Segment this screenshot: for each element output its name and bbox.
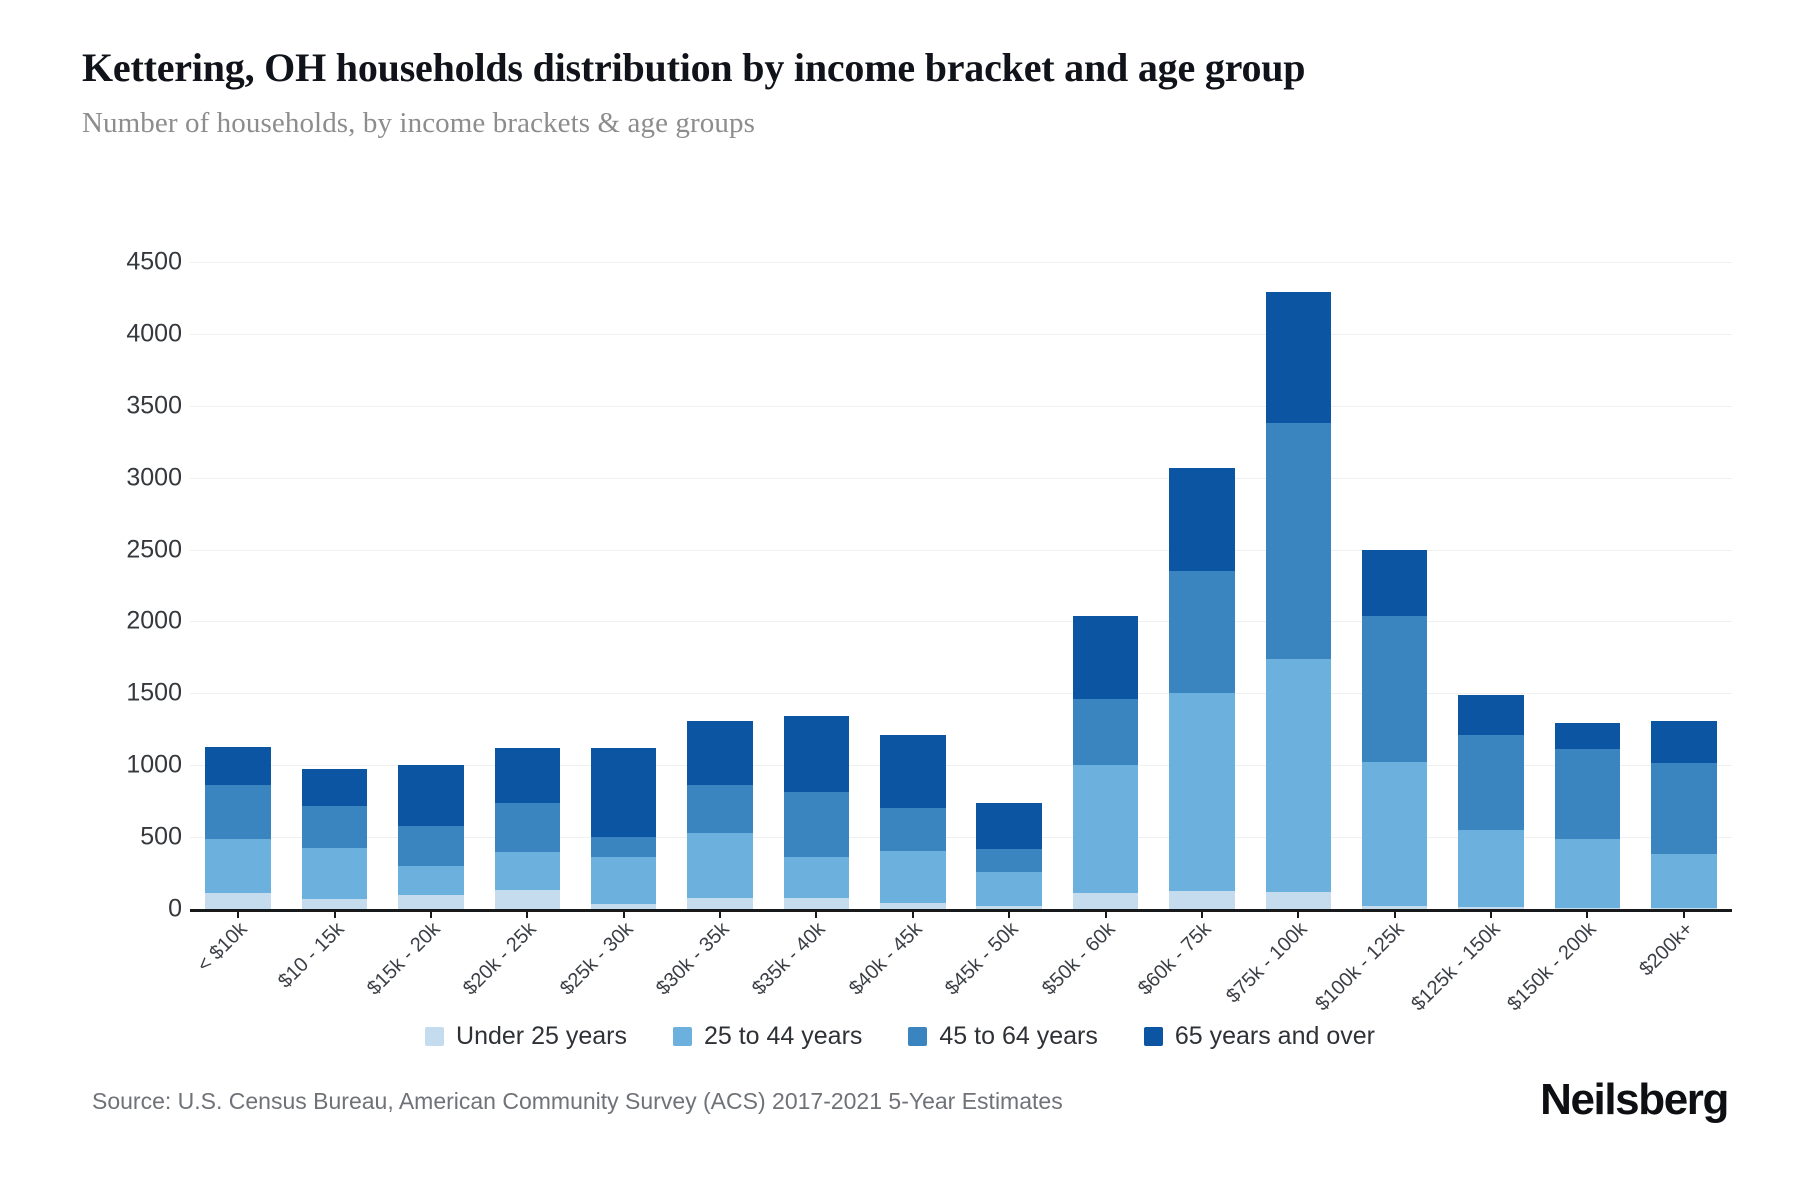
x-axis-label-cell: $50k - 60k <box>1057 918 1153 1028</box>
stacked-bar[interactable] <box>495 748 561 909</box>
x-axis-tick-label-text: < $10k <box>193 918 252 977</box>
y-axis-labels: 050010001500200025003000350040004500 <box>82 262 182 912</box>
x-axis-label-cell: $100k - 125k <box>1347 918 1443 1028</box>
bar-group[interactable] <box>1539 262 1635 909</box>
bar-segment[interactable] <box>687 721 753 784</box>
bar-segment[interactable] <box>302 848 368 899</box>
bar-segment[interactable] <box>302 806 368 848</box>
x-axis-label-cell: $35k - 40k <box>768 918 864 1028</box>
bar-segment[interactable] <box>1555 749 1621 838</box>
bar-segment[interactable] <box>1169 468 1235 572</box>
legend-color-swatch <box>425 1027 444 1046</box>
stacked-bar[interactable] <box>1555 723 1621 909</box>
bar-segment[interactable] <box>1651 721 1717 763</box>
chart-legend: Under 25 years25 to 44 years45 to 64 yea… <box>0 1022 1800 1051</box>
bar-group[interactable] <box>1347 262 1443 909</box>
bar-group[interactable] <box>1154 262 1250 909</box>
stacked-bar[interactable] <box>880 735 946 909</box>
bar-segment[interactable] <box>495 748 561 803</box>
x-axis-labels: < $10k$10 - 15k$15k - 20k$20k - 25k$25k … <box>190 918 1732 1028</box>
bar-segment[interactable] <box>205 747 271 785</box>
page-title: Kettering, OH households distribution by… <box>82 44 1622 91</box>
legend-item-label: 65 years and over <box>1175 1022 1375 1051</box>
y-axis-tick-label: 2500 <box>126 535 182 564</box>
x-axis-label-cell: $200k+ <box>1636 918 1732 1028</box>
bar-segment[interactable] <box>495 803 561 852</box>
bar-segment[interactable] <box>1169 571 1235 693</box>
bar-group[interactable] <box>865 262 961 909</box>
plot-area: 050010001500200025003000350040004500 <box>82 262 1732 912</box>
legend-item-label: 45 to 64 years <box>939 1022 1097 1051</box>
bar-segment[interactable] <box>1362 616 1428 762</box>
bar-segment[interactable] <box>1266 292 1332 423</box>
x-axis-label-cell: $30k - 35k <box>672 918 768 1028</box>
bar-segment[interactable] <box>880 735 946 808</box>
x-axis-label-cell: < $10k <box>190 918 286 1028</box>
x-axis-label-cell: $10 - 15k <box>286 918 382 1028</box>
stacked-bar[interactable] <box>398 765 464 909</box>
bar-group[interactable] <box>190 262 286 909</box>
brand-logo: Neilsberg <box>1540 1075 1728 1125</box>
bar-segment[interactable] <box>1555 723 1621 750</box>
bar-segment[interactable] <box>1458 735 1524 830</box>
stacked-bar[interactable] <box>1651 721 1717 909</box>
stacked-bar[interactable] <box>302 769 368 909</box>
bar-segment[interactable] <box>880 808 946 851</box>
stacked-bar[interactable] <box>1266 292 1332 909</box>
y-axis-tick-label: 4000 <box>126 319 182 348</box>
stacked-bar[interactable] <box>591 748 657 909</box>
legend-item-label: 25 to 44 years <box>704 1022 862 1051</box>
x-axis-tick-label-text: $200k+ <box>1635 918 1698 981</box>
y-axis-tick-label: 2000 <box>126 607 182 636</box>
bar-group[interactable] <box>1636 262 1732 909</box>
bar-segment[interactable] <box>1362 550 1428 616</box>
bar-segment[interactable] <box>976 803 1042 849</box>
y-axis-tick-label: 4500 <box>126 248 182 277</box>
y-axis-tick-label: 0 <box>168 895 182 924</box>
y-axis-tick-label: 1500 <box>126 679 182 708</box>
bar-segment[interactable] <box>1362 762 1428 906</box>
x-axis-label-cell: $40k - 45k <box>865 918 961 1028</box>
bar-series-container <box>190 262 1732 909</box>
bar-segment[interactable] <box>398 765 464 826</box>
bar-group[interactable] <box>672 262 768 909</box>
bar-segment[interactable] <box>1266 423 1332 659</box>
chart-header: Kettering, OH households distribution by… <box>82 44 1642 140</box>
y-axis-tick-label: 3500 <box>126 391 182 420</box>
grid-area <box>190 262 1732 912</box>
bar-group[interactable] <box>961 262 1057 909</box>
legend-item-4[interactable]: 65 years and over <box>1144 1022 1375 1051</box>
bar-group[interactable] <box>1057 262 1153 909</box>
bar-group[interactable] <box>286 262 382 909</box>
bar-group[interactable] <box>479 262 575 909</box>
y-axis-tick-label: 500 <box>140 823 182 852</box>
x-axis-label-cell: $20k - 25k <box>479 918 575 1028</box>
chart-subtitle: Number of households, by income brackets… <box>82 107 1642 140</box>
bar-segment[interactable] <box>1073 616 1139 699</box>
bar-segment[interactable] <box>591 748 657 837</box>
bar-segment[interactable] <box>687 785 753 833</box>
x-axis-label-cell: $25k - 30k <box>576 918 672 1028</box>
x-axis-label-cell: $15k - 20k <box>383 918 479 1028</box>
legend-color-swatch <box>908 1027 927 1046</box>
bar-segment[interactable] <box>398 866 464 895</box>
stacked-bar[interactable] <box>205 747 271 909</box>
bar-segment[interactable] <box>784 716 850 792</box>
bar-group[interactable] <box>1443 262 1539 909</box>
stacked-bar[interactable] <box>1169 468 1235 909</box>
bar-segment[interactable] <box>398 826 464 866</box>
legend-item-1[interactable]: Under 25 years <box>425 1022 627 1051</box>
legend-color-swatch <box>673 1027 692 1046</box>
legend-color-swatch <box>1144 1027 1163 1046</box>
stacked-bar[interactable] <box>687 721 753 909</box>
bar-group[interactable] <box>1250 262 1346 909</box>
bar-group[interactable] <box>383 262 479 909</box>
stacked-bar[interactable] <box>1458 695 1524 909</box>
x-axis-label-cell: $60k - 75k <box>1154 918 1250 1028</box>
bar-group[interactable] <box>576 262 672 909</box>
bar-group[interactable] <box>768 262 864 909</box>
bar-segment[interactable] <box>591 837 657 856</box>
bar-segment[interactable] <box>205 839 271 893</box>
source-note: Source: U.S. Census Bureau, American Com… <box>92 1088 1063 1115</box>
bar-segment[interactable] <box>1266 659 1332 893</box>
y-axis-tick-label: 3000 <box>126 463 182 492</box>
y-axis-tick-label: 1000 <box>126 751 182 780</box>
legend-item-3[interactable]: 45 to 64 years <box>908 1022 1097 1051</box>
legend-item-2[interactable]: 25 to 44 years <box>673 1022 862 1051</box>
bar-segment[interactable] <box>1073 699 1139 765</box>
x-axis-label-cell: $45k - 50k <box>961 918 1057 1028</box>
bar-segment[interactable] <box>784 792 850 857</box>
x-axis-label-cell: $125k - 150k <box>1443 918 1539 1028</box>
x-axis-label-cell: $150k - 200k <box>1539 918 1635 1028</box>
x-axis-label-cell: $75k - 100k <box>1250 918 1346 1028</box>
bar-segment[interactable] <box>1458 695 1524 735</box>
legend-item-label: Under 25 years <box>456 1022 627 1051</box>
bar-segment[interactable] <box>205 785 271 840</box>
bar-segment[interactable] <box>302 769 368 806</box>
stacked-bar[interactable] <box>784 716 850 909</box>
